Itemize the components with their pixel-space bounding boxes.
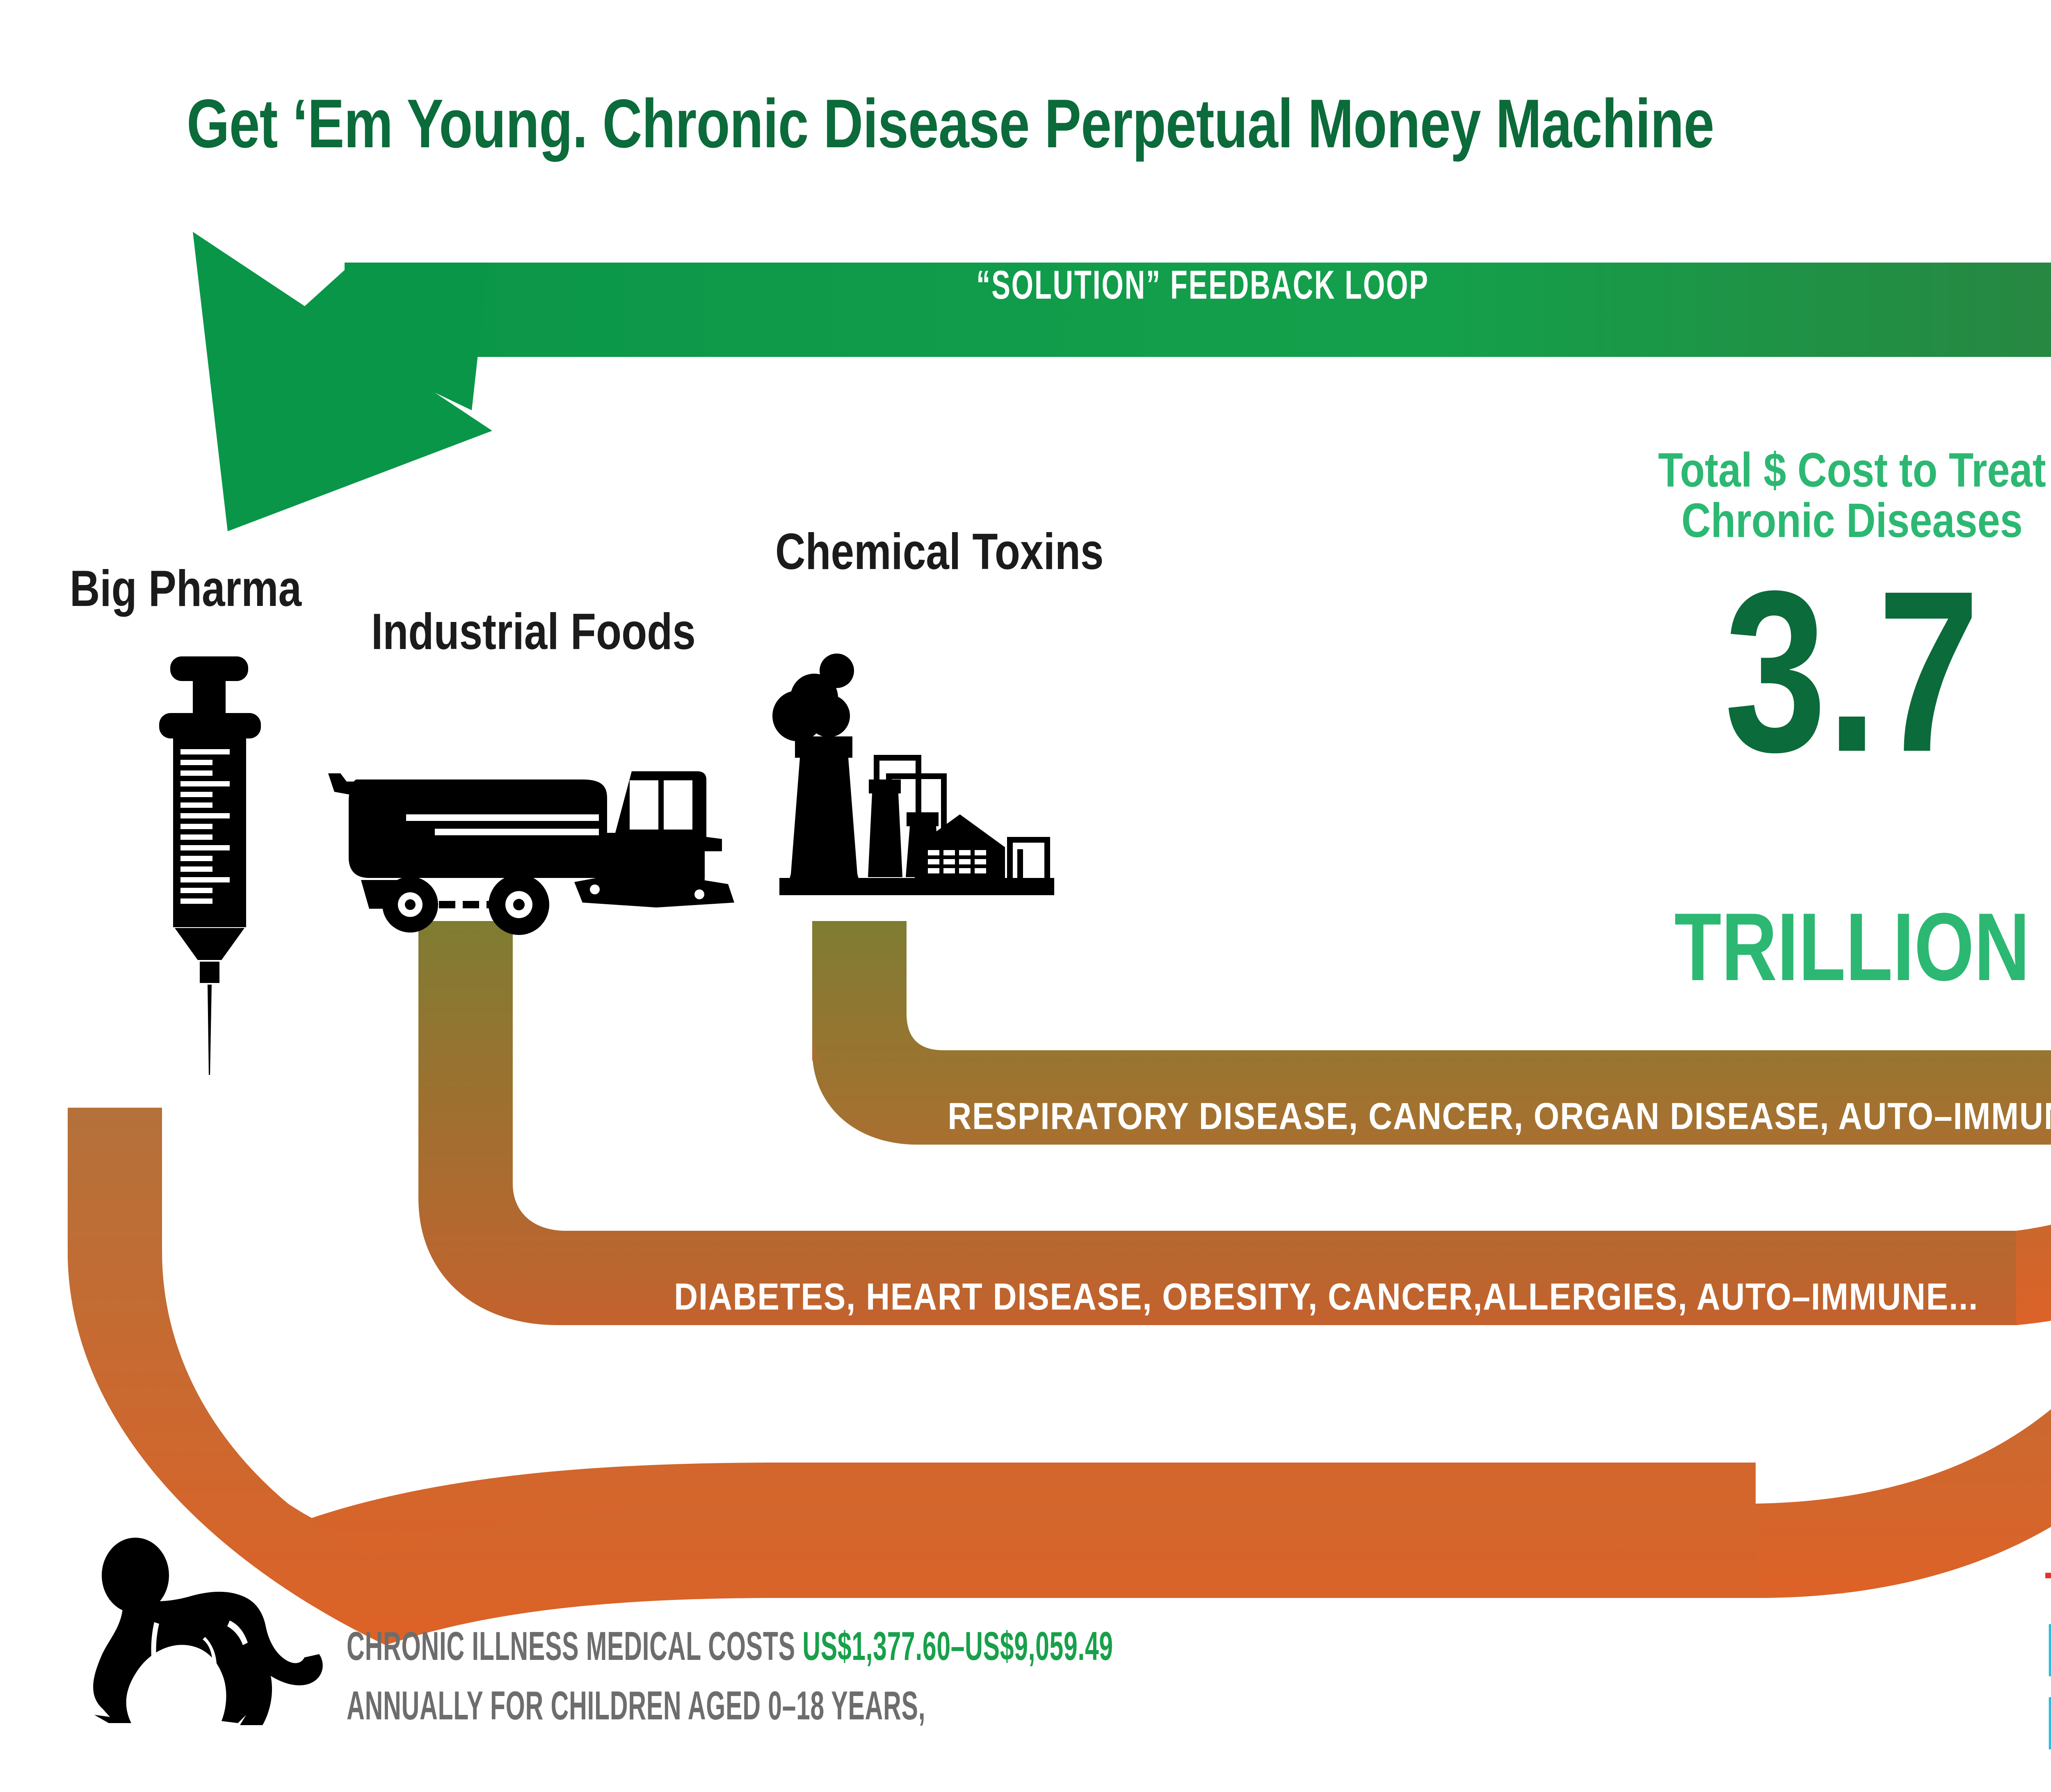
svg-text:RESPIRATORY DISEASE, CANCER, O: RESPIRATORY DISEASE, CANCER, ORGAN DISEA… xyxy=(948,1095,2051,1137)
logo-kennedy: KENNEDY xyxy=(2045,1614,2051,1687)
factory-smokestack-icon xyxy=(772,654,1054,895)
footer-caption: CHRONIC ILLNESS MEDICAL COSTS US$1,377.6… xyxy=(347,1616,1583,1735)
svg-text:DIABETES, HEART DISEASE, OBESI: DIABETES, HEART DISEASE, OBESITY, CANCER… xyxy=(674,1276,1978,1318)
kpi-heading-line-2: Chronic Diseases xyxy=(1602,496,2051,546)
source-label-big-pharma: Big Pharma xyxy=(70,564,301,614)
source-label-line: Industrial Foods xyxy=(371,603,696,660)
page-title: Get ‘Em Young. Chronic Disease Perpetual… xyxy=(187,84,1714,163)
kennedy-beacon-logo[interactable]: THE KENNEDY BEACON xyxy=(2045,1565,2051,1760)
source-label-industrial-foods: Industrial Foods xyxy=(371,607,696,657)
feedback-loop-label: “SOLUTION” FEEDBACK LOOP xyxy=(976,262,1429,308)
combine-harvester-icon xyxy=(328,771,734,935)
caption-line-1-prefix: CHRONIC ILLNESS MEDICAL COSTS xyxy=(347,1623,802,1669)
source-label-chemical-toxins: Chemical Toxins xyxy=(775,527,1103,577)
source-label-line: Chemical Toxins xyxy=(775,523,1103,580)
logo-the: THE xyxy=(2045,1565,2051,1614)
kpi-value: 3.7 xyxy=(1614,570,2051,773)
caption-cost-range: US$1,377.60–US$9,059.49 xyxy=(802,1623,1113,1669)
kpi-heading: Total $ Cost to Treat Chronic Diseases xyxy=(1602,445,2051,546)
infographic-canvas: RESPIRATORY DISEASE, CANCER, ORGAN DISEA… xyxy=(0,0,2051,1792)
kpi-heading-line-1: Total $ Cost to Treat xyxy=(1602,445,2051,496)
caption-line-2: ANNUALLY FOR CHILDREN AGED 0–18 YEARS, xyxy=(347,1676,1113,1735)
caption-line-1: CHRONIC ILLNESS MEDICAL COSTS US$1,377.6… xyxy=(347,1616,1113,1676)
band-big-pharma xyxy=(68,1108,1760,1645)
kpi-unit: TRILLION xyxy=(1614,898,2051,995)
logo-beacon: BEACON xyxy=(2045,1687,2051,1760)
syringe-icon xyxy=(159,656,261,1075)
